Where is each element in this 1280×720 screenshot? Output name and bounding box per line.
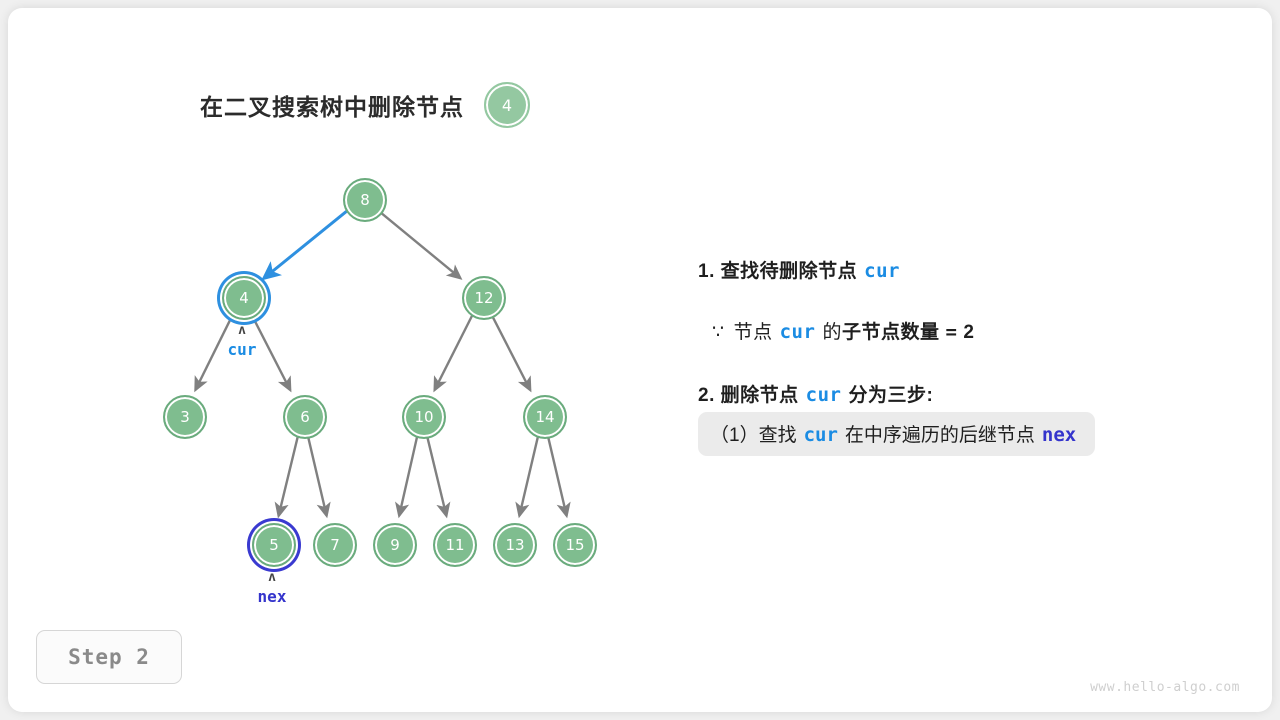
explanation-panel: 1. 查找待删除节点 cur ∵ 节点 cur 的 子节点数量 = 2 2. 删… <box>698 248 1228 456</box>
step2-suffix: 分为三步: <box>848 380 933 407</box>
substep1-index: （1）查找 <box>710 420 797 447</box>
reason-line: ∵ 节点 cur 的 子节点数量 = 2 <box>712 317 1228 344</box>
tree-edge <box>264 211 347 278</box>
tree-node-6: 6 <box>283 395 327 439</box>
step2-line: 2. 删除节点 cur 分为三步: <box>698 380 1228 407</box>
tree-edge <box>519 435 538 515</box>
tree-node-4: 4 <box>222 276 266 320</box>
step-badge: Step 2 <box>36 630 182 684</box>
reason-code-cur: cur <box>773 321 823 343</box>
diagram-card: 在二叉搜索树中删除节点 4 8412361014579111315 ʌcurʌn… <box>8 8 1272 712</box>
step2-code-cur: cur <box>799 384 849 406</box>
tree-node-14: 14 <box>523 395 567 439</box>
tree-edge <box>252 315 291 390</box>
tree-edge <box>308 435 327 515</box>
tree-node-12: 12 <box>462 276 506 320</box>
binary-search-tree: 8412361014579111315 ʌcurʌnex <box>8 8 668 712</box>
tree-edge <box>379 211 460 278</box>
tree-edge <box>427 435 446 515</box>
tree-edge <box>548 435 567 515</box>
tree-edge <box>399 435 417 515</box>
tree-node-11: 11 <box>433 523 477 567</box>
tree-node-8: 8 <box>343 178 387 222</box>
substep1-code-nex: nex <box>1035 424 1083 446</box>
tree-edge <box>435 315 473 390</box>
step1-line: 1. 查找待删除节点 cur <box>698 256 1228 283</box>
tree-node-15: 15 <box>553 523 597 567</box>
reason-mid: 的 <box>822 317 842 344</box>
tree-node-5: 5 <box>252 523 296 567</box>
because-symbol: ∵ <box>712 321 725 344</box>
tree-edge <box>195 315 232 390</box>
reason-equals: = <box>939 321 963 343</box>
tree-node-3: 3 <box>163 395 207 439</box>
tree-node-7: 7 <box>313 523 357 567</box>
step2-prefix: 2. 删除节点 <box>698 380 799 407</box>
step1-prefix: 1. 查找待删除节点 <box>698 256 857 283</box>
substep1-code-cur: cur <box>797 424 845 446</box>
substep1-highlight-row: （1）查找 cur 在中序遍历的后继节点 nex <box>698 412 1095 456</box>
tree-node-10: 10 <box>402 395 446 439</box>
substep1-mid: 在中序遍历的后继节点 <box>845 420 1035 447</box>
reason-value: 2 <box>963 322 974 344</box>
step1-code-cur: cur <box>857 260 907 282</box>
reason-pre: 节点 <box>725 317 773 344</box>
tree-edge <box>279 435 298 515</box>
tree-edge <box>492 315 531 390</box>
reason-strong: 子节点数量 <box>842 317 940 344</box>
watermark: www.hello-algo.com <box>1090 680 1240 695</box>
tree-node-13: 13 <box>493 523 537 567</box>
tree-edges-layer <box>8 8 668 712</box>
tree-node-9: 9 <box>373 523 417 567</box>
